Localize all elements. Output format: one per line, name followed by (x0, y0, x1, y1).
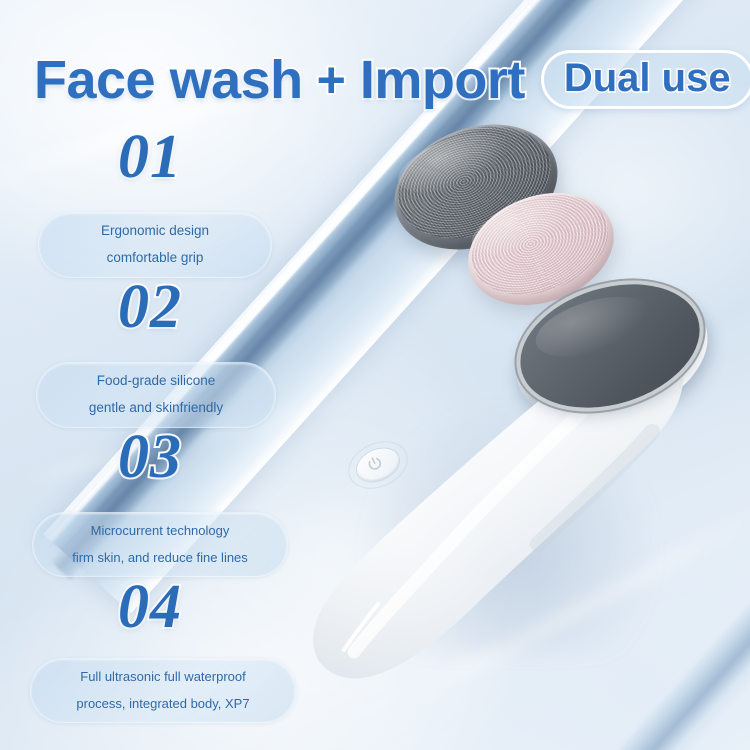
feature-line-2: process, integrated body, XP7 (39, 697, 287, 711)
product-poster: Face wash + Import Dual use 01 Ergonomic… (0, 0, 750, 750)
dual-use-badge: Dual use (541, 50, 750, 109)
feature-pill: Food-grade silicone gentle and skinfrien… (36, 362, 276, 428)
feature-line-2: gentle and skinfriendly (45, 401, 267, 415)
device-head-metal-plate (505, 264, 715, 429)
feature-line-1: Microcurrent technology (41, 524, 279, 538)
feature-line-2: comfortable grip (47, 251, 263, 265)
device-drop-shadow (360, 402, 660, 652)
feature-item: 03 Microcurrent technology firm skin, an… (0, 426, 300, 576)
feature-pill: Full ultrasonic full waterproof process,… (30, 658, 296, 723)
headline-part-two: Import (360, 53, 525, 107)
feature-line-1: Full ultrasonic full waterproof (39, 670, 287, 684)
device-body-edge-shading (313, 329, 683, 679)
device-specular-highlight (354, 378, 618, 652)
power-button-outer-ring (341, 432, 416, 497)
headline-plus-icon: + (317, 55, 346, 105)
power-icon (363, 452, 387, 476)
feature-item: 01 Ergonomic design comfortable grip (0, 126, 300, 276)
power-button[interactable] (352, 442, 404, 487)
feature-number: 01 (0, 126, 300, 188)
headline-part-one: Face wash (34, 53, 303, 107)
feature-line-1: Food-grade silicone (45, 374, 267, 388)
feature-item: 04 Full ultrasonic full waterproof proce… (0, 576, 300, 726)
feature-number: 04 (0, 576, 300, 638)
feature-line-2: firm skin, and reduce fine lines (41, 551, 279, 565)
dual-use-badge-label: Dual use (564, 56, 731, 100)
feature-number: 03 (0, 426, 300, 488)
feature-number: 02 (0, 276, 300, 338)
device-head-chrome-ring (500, 266, 724, 444)
headline: Face wash + Import Dual use (34, 50, 750, 109)
feature-pill: Microcurrent technology firm skin, and r… (32, 512, 288, 577)
device-handle-shape (313, 329, 683, 679)
feature-item: 02 Food-grade silicone gentle and skinfr… (0, 276, 300, 426)
feature-line-1: Ergonomic design (47, 224, 263, 238)
device-contour-shadow (538, 432, 652, 544)
feature-list: 01 Ergonomic design comfortable grip 02 … (0, 126, 300, 726)
device-tip-glint (344, 604, 378, 650)
secondary-glass-edge (607, 402, 750, 750)
feature-pill: Ergonomic design comfortable grip (38, 212, 272, 278)
